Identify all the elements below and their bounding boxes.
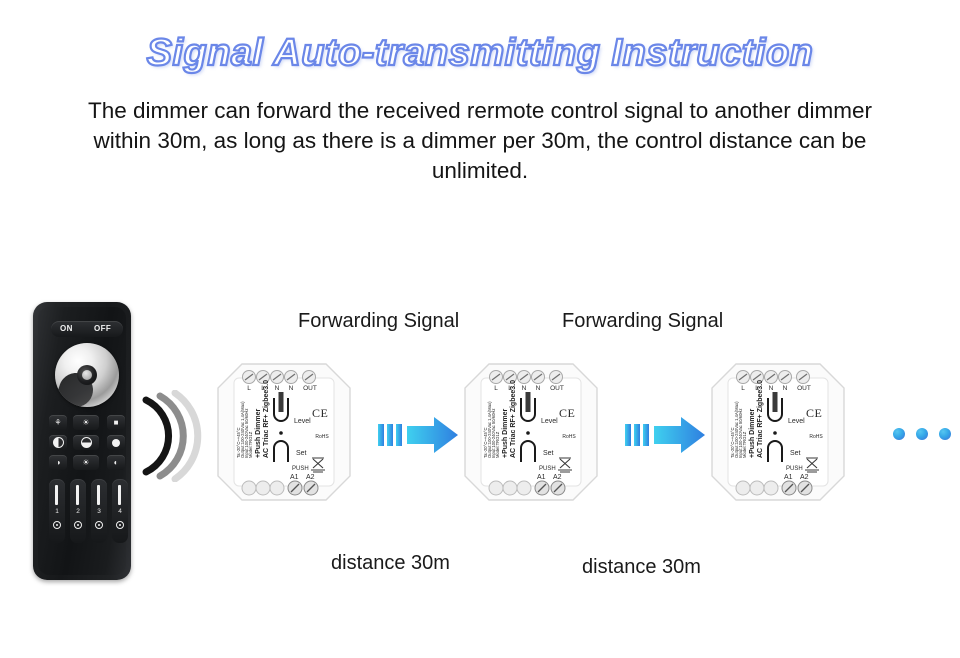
- terminal-label-a2: A2: [553, 474, 562, 481]
- distance-label-2: distance 30m: [582, 556, 701, 579]
- push-label: PUSH: [292, 466, 309, 472]
- terminal-label-a1: A1: [290, 474, 299, 481]
- remote-zone-4[interactable]: 4: [112, 479, 128, 543]
- remote-zone-number: 3: [91, 508, 107, 515]
- rohs-mark-icon: RoHS: [312, 434, 332, 440]
- ce-mark-icon: CE: [806, 406, 822, 421]
- dimmer-module-3: L L N N OUT AC Triac RF+ Zigbee3.0 +Push…: [710, 362, 846, 502]
- ce-mark-icon: CE: [559, 406, 575, 421]
- remote-dim-up-icon[interactable]: ◐: [107, 455, 125, 470]
- rohs-mark-icon: RoHS: [559, 434, 579, 440]
- product-name-label: AC Triac RF+ Zigbee3.0: [510, 380, 517, 458]
- terminal-label-a2: A2: [306, 474, 315, 481]
- remote-mode-mid-icon[interactable]: [73, 435, 99, 450]
- remote-onoff-bar[interactable]: ON OFF: [51, 321, 123, 337]
- terminal-label-out: OUT: [547, 385, 567, 392]
- terminal-label-l1: L: [736, 385, 750, 392]
- remote-zone-number: 4: [112, 508, 128, 515]
- continuation-dot: [939, 428, 951, 440]
- rohs-mark-icon: RoHS: [806, 434, 826, 440]
- remote-zone-2[interactable]: 2: [70, 479, 86, 543]
- spec-temp-label: Ta:-20°C~+45°C: [730, 427, 735, 458]
- terminal-label-n2: N: [284, 385, 298, 392]
- product-subtitle-label: +Push Dimmer: [502, 409, 509, 458]
- push-label: PUSH: [786, 466, 803, 472]
- rf-signal-waves-icon: [138, 390, 208, 482]
- remote-zone-bar: [97, 485, 100, 505]
- dimmer-module-2: L L N N OUT AC Triac RF+ Zigbee3.0 +Push…: [463, 362, 599, 502]
- forwarding-signal-label-1: Forwarding Signal: [298, 310, 459, 333]
- remote-zone-bar: [118, 485, 121, 505]
- page-title: Signal Auto-transmitting Instruction: [0, 32, 960, 75]
- description-text: The dimmer can forward the received rerm…: [80, 96, 880, 186]
- push-label: PUSH: [539, 466, 556, 472]
- dimmer-module-1: L L N N OUT AC Triac RF+ Zigbee3.0 +Push…: [216, 362, 352, 502]
- remote-zone-bar: [76, 485, 79, 505]
- remote-button-row-1: ⚘ ☀ ■: [49, 415, 125, 430]
- remote-zone-number: 2: [70, 508, 86, 515]
- forwarding-signal-label-2: Forwarding Signal: [562, 310, 723, 333]
- ce-mark-icon: CE: [312, 406, 328, 421]
- set-label: Set: [296, 450, 307, 457]
- spec-temp-label: Ta:-20°C~+45°C: [236, 427, 241, 458]
- remote-zone-bar: [55, 485, 58, 505]
- terminal-label-a1: A1: [784, 474, 793, 481]
- remote-button-row-2: [49, 435, 125, 450]
- remote-body: ON OFF ⚘ ☀ ■ ◑ ☀ ◐: [38, 307, 126, 575]
- remote-speed-up-icon[interactable]: ■: [107, 415, 125, 430]
- terminal-label-n1: N: [270, 385, 284, 392]
- remote-sun-icon[interactable]: ☀: [73, 455, 99, 470]
- remote-dim-down-icon[interactable]: ◑: [49, 455, 67, 470]
- terminal-label-n2: N: [531, 385, 545, 392]
- continuation-dot: [916, 428, 928, 440]
- remote-zone-off-icon[interactable]: [53, 521, 61, 529]
- terminal-label-out: OUT: [300, 385, 320, 392]
- remote-control: ON OFF ⚘ ☀ ■ ◑ ☀ ◐: [33, 302, 131, 580]
- remote-zone-off-icon[interactable]: [116, 521, 124, 529]
- product-subtitle-label: +Push Dimmer: [749, 409, 756, 458]
- terminal-label-l1: L: [489, 385, 503, 392]
- set-label: Set: [543, 450, 554, 457]
- remote-button-row-3: ◑ ☀ ◐: [49, 455, 125, 470]
- forwarding-arrow-2-icon: [625, 415, 709, 455]
- slide-canvas: Signal Auto-transmitting Instruction The…: [0, 0, 960, 658]
- continuation-dot: [893, 428, 905, 440]
- forwarding-arrow-1-icon: [378, 415, 462, 455]
- remote-zone-off-icon[interactable]: [95, 521, 103, 529]
- level-label: Level: [294, 418, 311, 425]
- product-name-label: AC Triac RF+ Zigbee3.0: [263, 380, 270, 458]
- level-label: Level: [788, 418, 805, 425]
- distance-label-1: distance 30m: [331, 552, 450, 575]
- remote-mode-right-icon[interactable]: [107, 435, 125, 450]
- dimmer-module-labels: L L N N OUT AC Triac RF+ Zigbee3.0 +Push…: [463, 362, 599, 502]
- remote-speed-down-icon[interactable]: ⚘: [49, 415, 67, 430]
- remote-on-label: ON: [60, 324, 73, 333]
- terminal-label-n2: N: [778, 385, 792, 392]
- level-label: Level: [541, 418, 558, 425]
- terminal-label-out: OUT: [794, 385, 814, 392]
- remote-dial-hub[interactable]: [77, 365, 97, 385]
- terminal-label-n1: N: [764, 385, 778, 392]
- dimmer-module-labels: L L N N OUT AC Triac RF+ Zigbee3.0 +Push…: [710, 362, 846, 502]
- dimmer-module-labels: L L N N OUT AC Triac RF+ Zigbee3.0 +Push…: [216, 362, 352, 502]
- set-label: Set: [790, 450, 801, 457]
- remote-zone-off-icon[interactable]: [74, 521, 82, 529]
- terminal-label-l1: L: [242, 385, 256, 392]
- remote-color-dial[interactable]: [55, 343, 119, 407]
- continuation-dots-icon: [893, 428, 951, 442]
- product-name-label: AC Triac RF+ Zigbee3.0: [757, 380, 764, 458]
- spec-temp-label: Ta:-20°C~+45°C: [483, 427, 488, 458]
- remote-zone-3[interactable]: 3: [91, 479, 107, 543]
- remote-brightness-icon[interactable]: ☀: [73, 415, 99, 430]
- remote-off-label: OFF: [94, 324, 111, 333]
- remote-zone-group: 1 2 3 4: [49, 479, 127, 543]
- terminal-label-a1: A1: [537, 474, 546, 481]
- terminal-label-n1: N: [517, 385, 531, 392]
- remote-zone-number: 1: [49, 508, 65, 515]
- product-subtitle-label: +Push Dimmer: [255, 409, 262, 458]
- terminal-label-a2: A2: [800, 474, 809, 481]
- remote-zone-1[interactable]: 1: [49, 479, 65, 543]
- remote-mode-left-icon[interactable]: [49, 435, 67, 450]
